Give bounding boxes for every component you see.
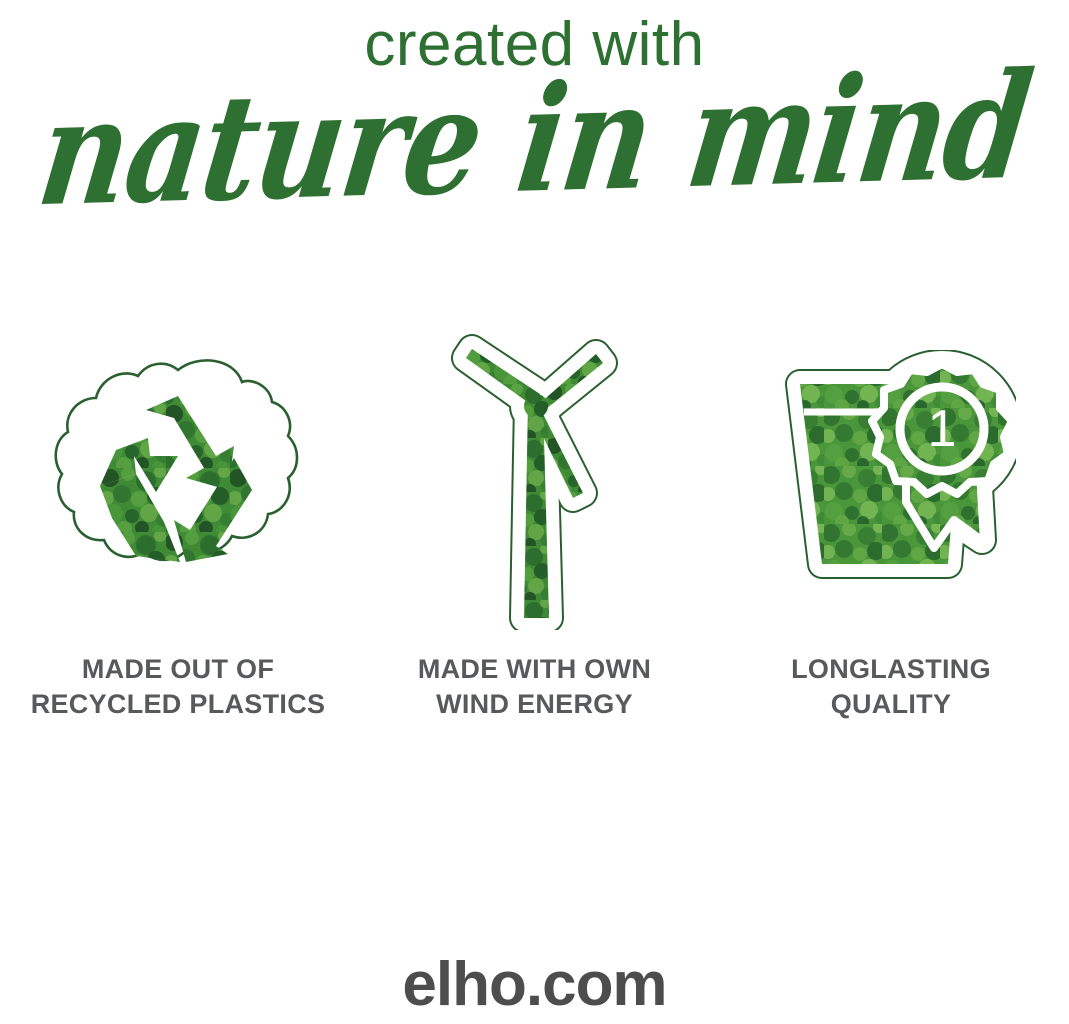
feature-recycled-plastics: MADE OUT OF RECYCLED PLASTICS — [0, 330, 356, 721]
feature-label-recycled-plastics: MADE OUT OF RECYCLED PLASTICS — [31, 652, 326, 721]
headline-line-2: nature in mind — [30, 43, 1038, 239]
poster-root: created with nature in mind — [0, 0, 1069, 1024]
headline-block: created with nature in mind — [0, 0, 1069, 220]
website-url[interactable]: elho.com — [402, 950, 666, 1019]
feature-longlasting-quality: 1 LONGLASTING QUALITY — [713, 330, 1069, 721]
feature-wind-energy: MADE WITH OWN WIND ENERGY — [357, 330, 713, 721]
medal-number: 1 — [928, 400, 957, 458]
feature-label-longlasting-quality: LONGLASTING QUALITY — [791, 652, 991, 721]
recycle-icon — [38, 330, 318, 630]
wind-turbine-icon — [440, 330, 630, 630]
feature-row: MADE OUT OF RECYCLED PLASTICS — [0, 330, 1069, 721]
headline-script-wrap: nature in mind — [0, 70, 1069, 220]
recycle-sticker-outline — [56, 360, 297, 559]
footer: elho.com — [0, 954, 1069, 1016]
feature-label-wind-energy: MADE WITH OWN WIND ENERGY — [418, 652, 651, 721]
award-pot-icon: 1 — [766, 330, 1016, 630]
